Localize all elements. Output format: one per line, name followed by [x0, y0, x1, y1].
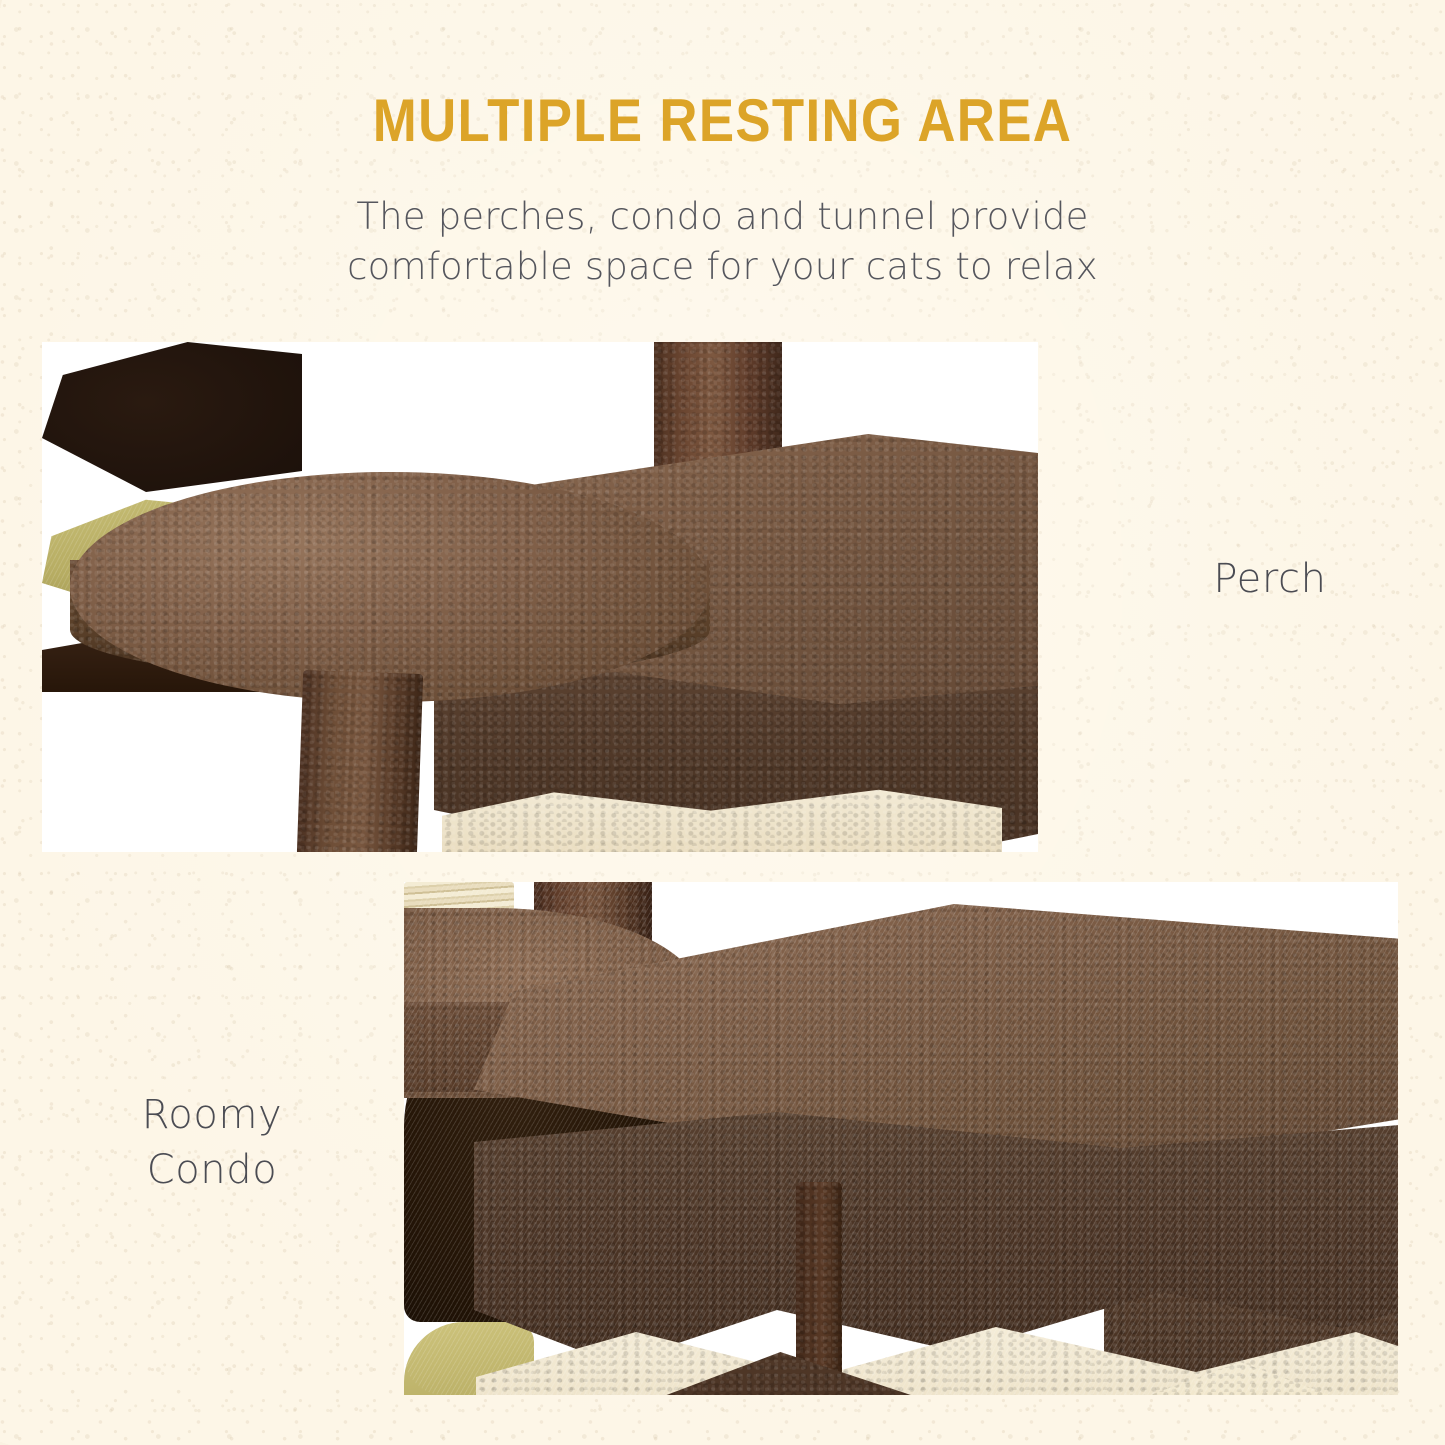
condo-scene [404, 882, 1398, 1395]
perch-support-post [297, 670, 423, 852]
condo-interior-olive [404, 1322, 534, 1395]
subtitle-line-2: comfortable space for your cats to relax [273, 242, 1173, 292]
condo-interior-shadow [42, 342, 302, 492]
callout-label-roomy-condo: Roomy Condo [62, 1088, 362, 1198]
perch-platform-top [70, 472, 710, 702]
condo-photo [404, 882, 1398, 1395]
subtitle-line-1: The perches, condo and tunnel provide [273, 192, 1173, 242]
perch-scene [42, 342, 1038, 852]
page-subtitle: The perches, condo and tunnel provide co… [273, 192, 1173, 293]
perch-photo [42, 342, 1038, 852]
page-title: MULTIPLE RESTING AREA [87, 86, 1359, 155]
callout-label-perch: Perch [1150, 552, 1390, 607]
